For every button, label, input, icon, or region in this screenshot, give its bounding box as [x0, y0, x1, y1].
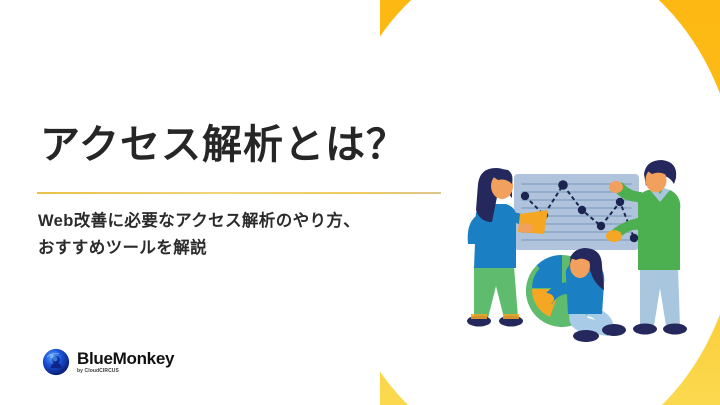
brand-name: BlueMonkey — [77, 350, 174, 367]
brand-tagline: by CloudCIRCUS — [77, 369, 174, 374]
brand-logo-text: BlueMonkey by CloudCIRCUS — [77, 350, 174, 374]
blue-monkey-globe-icon — [42, 348, 70, 376]
subtitle-line-1: Web改善に必要なアクセス解析のやり方、 — [38, 212, 360, 230]
slide-canvas: アクセス解析とは？ Web改善に必要なアクセス解析のやり方、 おすすめツールを解… — [0, 0, 720, 405]
brand-logo[interactable]: BlueMonkey by CloudCIRCUS — [42, 348, 174, 376]
page-subtitle: Web改善に必要なアクセス解析のやり方、 おすすめツールを解説 — [38, 208, 458, 262]
web-analytics-team-illustration — [462, 158, 720, 358]
title-divider — [37, 192, 441, 194]
page-title: アクセス解析とは？ — [40, 122, 407, 168]
subtitle-line-2: おすすめツールを解説 — [38, 239, 207, 257]
